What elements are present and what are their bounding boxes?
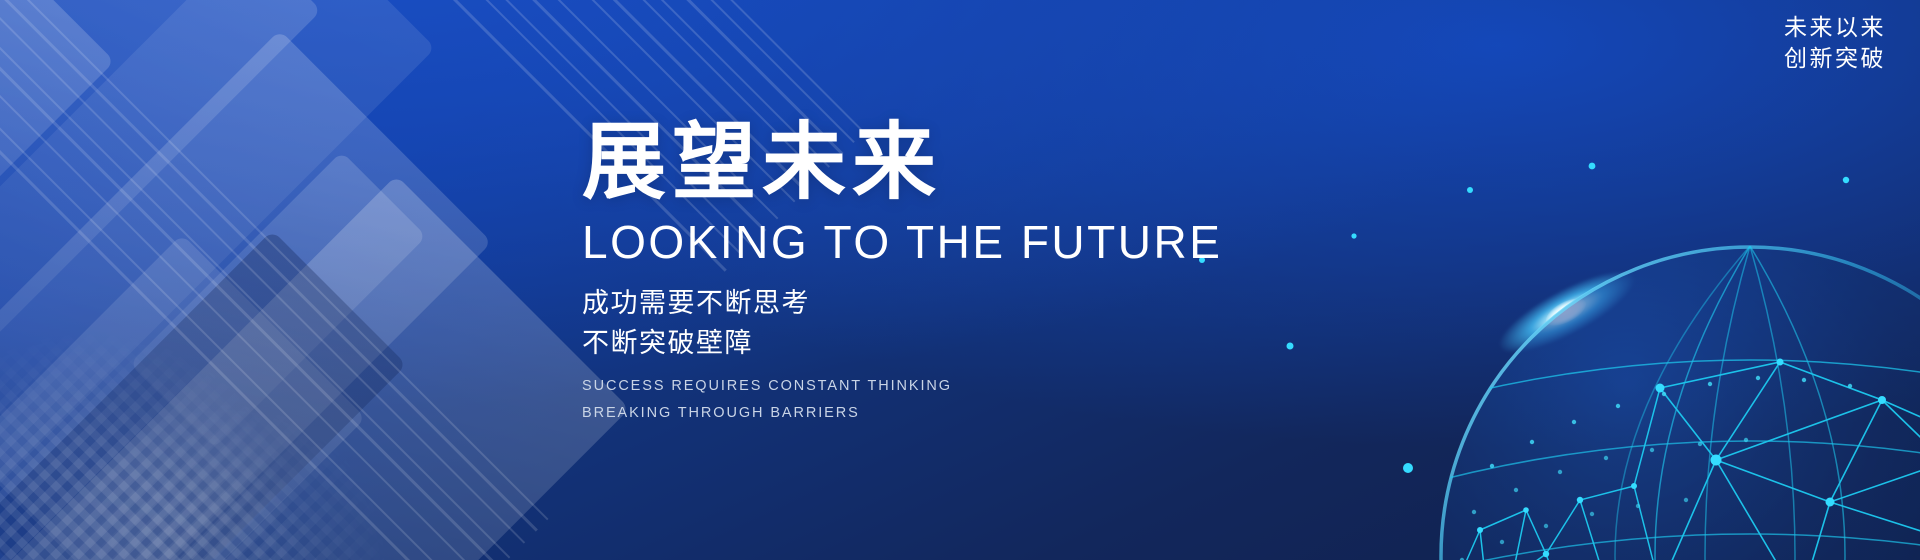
decor-plate-7 xyxy=(0,0,115,295)
decor-plate-2 xyxy=(0,0,436,501)
decor-plate-shadow xyxy=(0,230,407,560)
corner-mark-line-2: 创新突破 xyxy=(1784,43,1886,74)
decor-plate-1 xyxy=(0,0,321,406)
decor-plate-4 xyxy=(0,234,366,560)
decor-plate-3 xyxy=(0,30,492,560)
corner-mark: 未来以来 创新突破 xyxy=(1784,12,1886,74)
decor-line-bundle-lower xyxy=(0,0,573,560)
corner-mark-line-1: 未来以来 xyxy=(1784,12,1886,43)
wireframe-globe-icon xyxy=(1140,150,1920,560)
hero-banner: 展望未来 LOOKING TO THE FUTURE 成功需要不断思考 不断突破… xyxy=(0,0,1920,560)
subtitle-chinese-1: 成功需要不断思考 xyxy=(582,284,1222,322)
decor-plate-5 xyxy=(0,175,629,560)
subtitle-english-1: SUCCESS REQUIRES CONSTANT THINKING xyxy=(582,374,1222,399)
decor-checker-grid xyxy=(0,243,387,560)
subtitle-chinese-2: 不断突破壁障 xyxy=(582,324,1222,362)
headline-block: 展望未来 LOOKING TO THE FUTURE 成功需要不断思考 不断突破… xyxy=(582,118,1222,426)
subtitle-english-2: BREAKING THROUGH BARRIERS xyxy=(582,401,1222,426)
decor-plate-6 xyxy=(130,152,427,449)
globe-mesh-svg xyxy=(1140,150,1920,560)
page-title-chinese: 展望未来 xyxy=(582,118,1222,207)
page-title-english: LOOKING TO THE FUTURE xyxy=(582,217,1222,268)
decor-checker-grid-2 xyxy=(0,332,458,560)
